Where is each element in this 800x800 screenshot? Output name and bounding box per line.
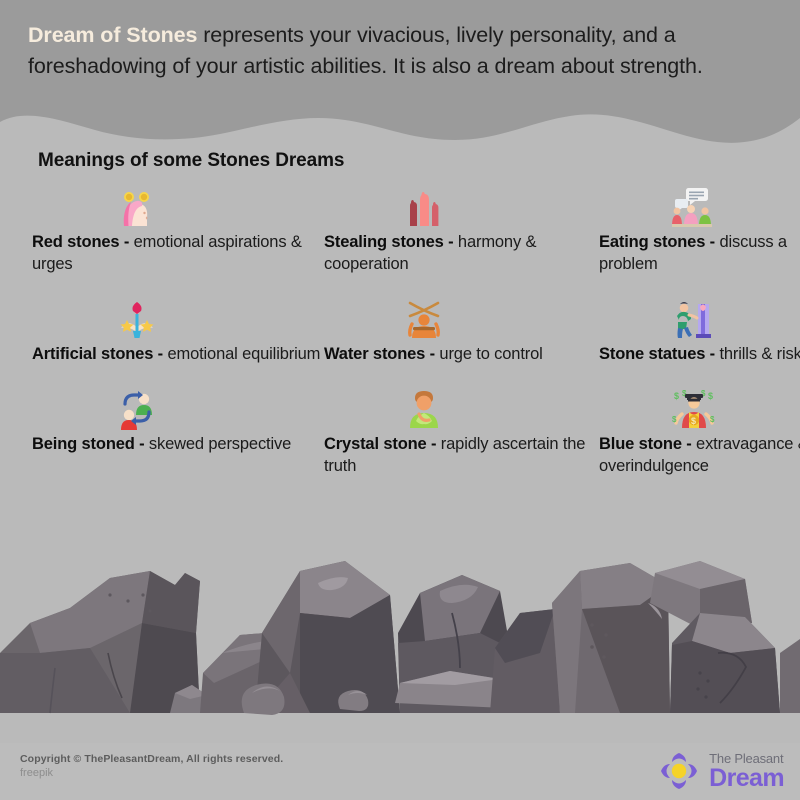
meaning-item-water-stones: Water stones - urge to control: [324, 294, 599, 366]
meaning-text: Blue stone - extravagance & overindulgen…: [599, 434, 800, 478]
meaning-definition: urge to control: [435, 345, 543, 363]
meaning-term: Blue stone -: [599, 435, 692, 453]
rocks-illustration: [0, 513, 800, 743]
meaning-text: Eating stones - discuss a problem: [599, 232, 800, 276]
meaning-item-artificial-stones: Artificial stones - emotional equilibriu…: [32, 294, 324, 366]
flower-logo-icon: [657, 749, 701, 793]
logo-top-text: The Pleasant: [709, 752, 784, 765]
meaning-item-being-stoned: Being stoned - skewed perspective: [32, 384, 324, 478]
meaning-text: Stone statues - thrills & risks: [599, 344, 800, 366]
svg-text:$: $: [708, 391, 713, 401]
svg-text:$: $: [710, 415, 715, 424]
meaning-term: Artificial stones -: [32, 345, 163, 363]
meaning-item-red-stones: Red stones - emotional aspirations & urg…: [32, 182, 324, 276]
svg-text:$: $: [691, 416, 696, 426]
meaning-term: Being stoned -: [32, 435, 144, 453]
meaning-term: Water stones -: [324, 345, 435, 363]
header-paragraph: Dream of Stones represents your vivaciou…: [28, 20, 772, 81]
meaning-text: Red stones - emotional aspirations & urg…: [32, 232, 324, 276]
meaning-text: Artificial stones - emotional equilibriu…: [32, 344, 324, 366]
balance-person-icon: [72, 294, 202, 342]
brand-logo[interactable]: The Pleasant Dream: [657, 749, 784, 793]
people-talking-icon: [629, 182, 759, 230]
woman-with-gems-icon: [72, 182, 202, 230]
meaning-definition: skewed perspective: [144, 435, 291, 453]
meaning-term: Stone statues -: [599, 345, 715, 363]
meanings-grid: Red stones - emotional aspirations & urg…: [0, 182, 800, 478]
meaning-text: Stealing stones - harmony & cooperation: [324, 232, 599, 276]
logo-bottom-text: Dream: [709, 766, 784, 791]
infographic-page: Dream of Stones represents your vivaciou…: [0, 0, 800, 800]
footer-bar: Copyright © ThePleasantDream, All rights…: [0, 743, 800, 800]
person-with-money-icon: $ $ $ $ $ $ $: [629, 384, 759, 432]
meaning-term: Crystal stone -: [324, 435, 436, 453]
person-green-shirt-icon: [359, 384, 489, 432]
meaning-definition: emotional equilibrium: [163, 345, 320, 363]
copyright-text: Copyright © ThePleasantDream, All rights…: [20, 753, 283, 765]
meaning-term: Stealing stones -: [324, 233, 453, 251]
svg-text:$: $: [674, 391, 679, 401]
header-emphasis: Dream of Stones: [28, 23, 197, 47]
attribution-text: freepik: [20, 767, 53, 779]
person-tied-icon: [359, 294, 489, 342]
section-title: Meanings of some Stones Dreams: [38, 150, 344, 172]
meaning-item-stealing-stones: Stealing stones - harmony & cooperation: [324, 182, 599, 276]
person-pushing-statue-icon: [629, 294, 759, 342]
meaning-term: Eating stones -: [599, 233, 715, 251]
meaning-item-blue-stone: $ $ $ $ $ $ $: [599, 384, 800, 478]
meaning-text: Water stones - urge to control: [324, 344, 599, 366]
header-banner: Dream of Stones represents your vivaciou…: [0, 0, 800, 160]
meaning-term: Red stones -: [32, 233, 129, 251]
logo-wordmark: The Pleasant Dream: [709, 752, 784, 791]
meaning-item-eating-stones: Eating stones - discuss a problem: [599, 182, 800, 276]
meaning-text: Crystal stone - rapidly ascertain the tr…: [324, 434, 599, 478]
people-exchange-icon: [72, 384, 202, 432]
meaning-item-stone-statues: Stone statues - thrills & risks: [599, 294, 800, 366]
svg-text:$: $: [672, 415, 677, 424]
raised-hands-icon: [359, 182, 489, 230]
meaning-definition: thrills & risks: [715, 345, 800, 363]
meaning-item-crystal-stone: Crystal stone - rapidly ascertain the tr…: [324, 384, 599, 478]
meaning-text: Being stoned - skewed perspective: [32, 434, 324, 456]
